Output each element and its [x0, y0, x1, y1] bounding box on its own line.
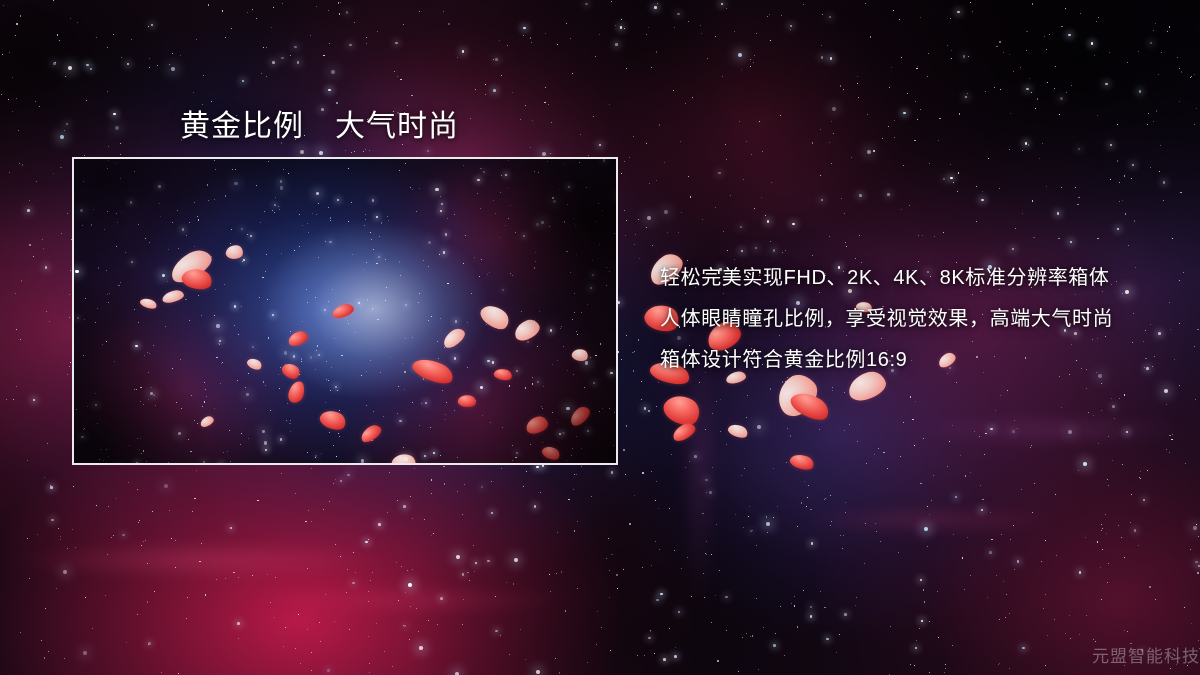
- slide-canvas: 黄金比例 大气时尚 轻松完美实现FHD、2K、4K、8K标准分辨率箱体 人体眼睛…: [0, 0, 1200, 675]
- body-line-1: 轻松完美实现FHD、2K、4K、8K标准分辨率箱体: [660, 258, 1170, 299]
- flower-petal: [670, 420, 698, 443]
- photo-vignette: [74, 159, 616, 463]
- watermark: 元盟智能科技: [1092, 642, 1200, 667]
- photo-content: [74, 159, 616, 463]
- flower-petal: [788, 451, 815, 472]
- flower-petal: [659, 389, 704, 432]
- flower-petal: [787, 386, 833, 425]
- body-line-2: 人体眼睛瞳孔比例，享受视觉效果，高端大气时尚: [660, 299, 1170, 340]
- page-title: 黄金比例 大气时尚: [180, 101, 459, 145]
- framed-photo-panel: [72, 157, 618, 465]
- flower-petal: [726, 421, 749, 440]
- body-line-3: 箱体设计符合黄金比例16:9: [660, 340, 1170, 381]
- body-text-block: 轻松完美实现FHD、2K、4K、8K标准分辨率箱体 人体眼睛瞳孔比例，享受视觉效…: [660, 258, 1170, 381]
